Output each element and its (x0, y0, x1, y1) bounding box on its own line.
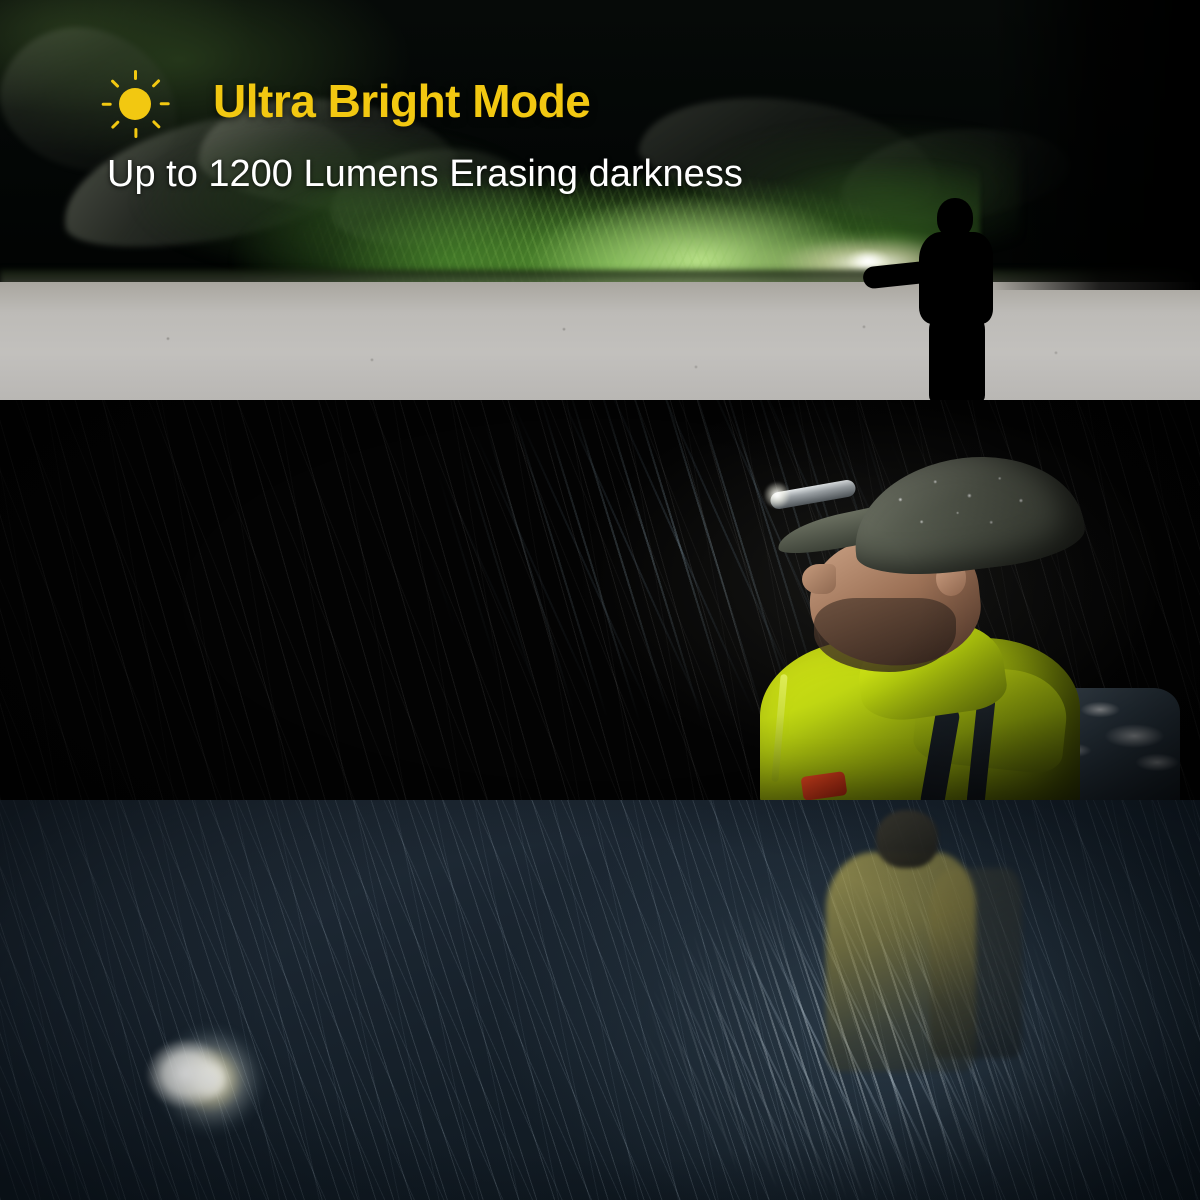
ultra-bright-mode-subtitle: Up to 1200 Lumens Erasing darkness (107, 155, 743, 193)
scene-shadow-overlay (990, 0, 1200, 290)
scene-vignette (0, 400, 1200, 800)
sos-scene-photo (0, 400, 1200, 800)
panel-strobe-mode: Strobe Mode Defense I Deter I Signal (0, 800, 1200, 1200)
ultra-bright-scene-photo (0, 0, 1200, 400)
silhouette-torso (919, 232, 993, 324)
sand-texture (0, 282, 1200, 400)
sun-ray (151, 120, 160, 129)
sun-icon (101, 70, 169, 138)
panel-sos-mode: SOS Mode International Standard Morse Co… (0, 400, 1200, 800)
sun-ray (159, 102, 169, 105)
sun-core (119, 88, 151, 120)
sun-ray (110, 79, 119, 88)
sun-ray (151, 79, 160, 88)
silhouette-legs (929, 316, 985, 400)
panel-ultra-bright-mode: Ultra Bright Mode Up to 1200 Lumens Eras… (0, 0, 1200, 400)
sun-ray (134, 70, 137, 80)
sun-ray (134, 128, 137, 138)
sun-ray (110, 120, 119, 129)
product-feature-infographic: Ultra Bright Mode Up to 1200 Lumens Eras… (0, 0, 1200, 1200)
sun-ray (101, 102, 111, 105)
ultra-bright-mode-title: Ultra Bright Mode (213, 78, 590, 124)
scene-vignette (0, 800, 1200, 1200)
